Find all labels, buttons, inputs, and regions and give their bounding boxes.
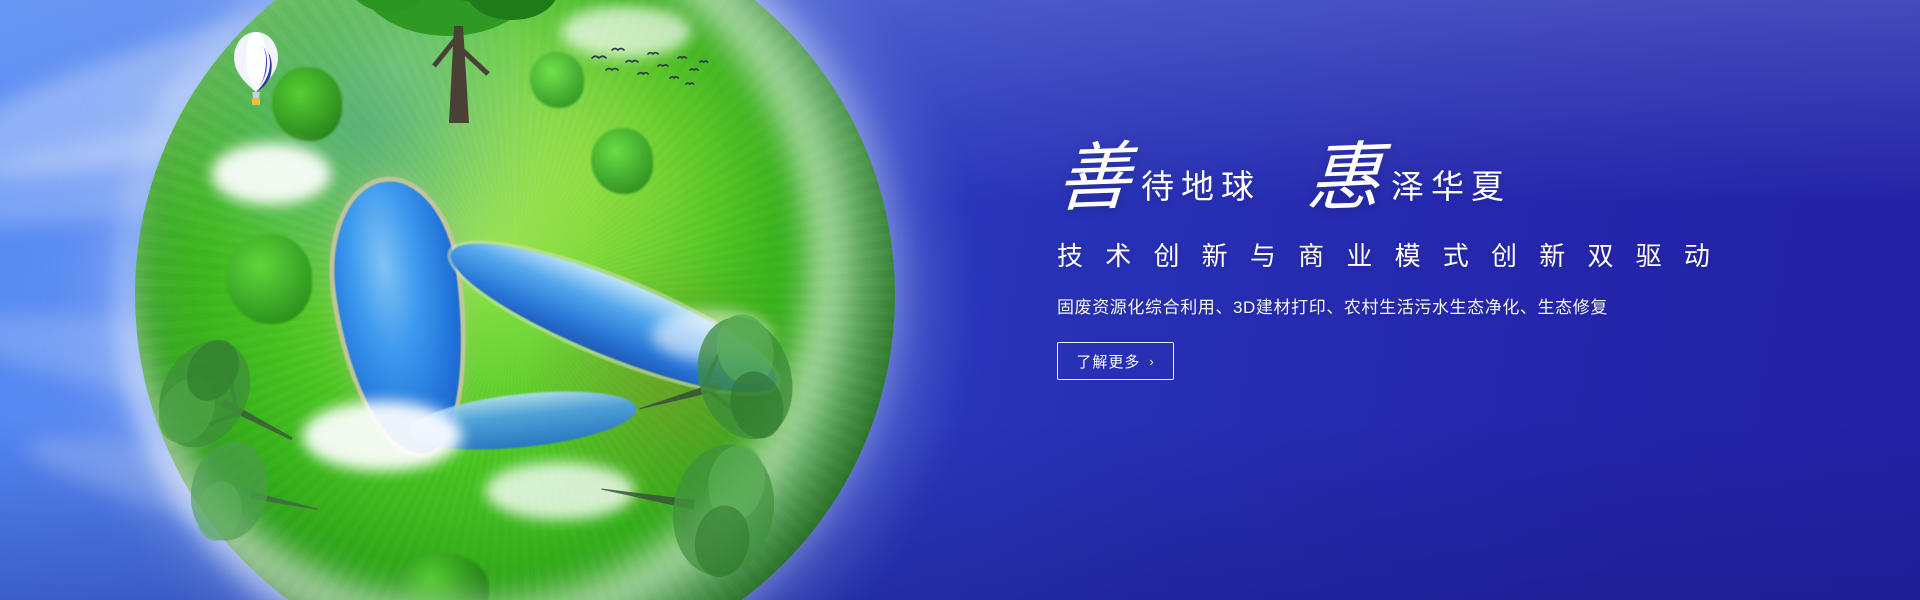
description: 固废资源化综合利用、3D建材打印、农村生活污水生态净化、生态修复 [1057, 293, 1757, 318]
learn-more-button[interactable]: 了解更多 › [1057, 342, 1174, 380]
hot-air-balloon-icon [232, 30, 280, 116]
headline: 善 待地球 惠 泽华夏 [1057, 132, 1757, 214]
subtitle: 技 术 创 新 与 商 业 模 式 创 新 双 驱 动 [1057, 236, 1757, 273]
headline-char-shan: 善 [1055, 142, 1133, 215]
headline-part-daidiqiu: 待地球 [1131, 172, 1261, 214]
hero-text-block: 善 待地球 惠 泽华夏 技 术 创 新 与 商 业 模 式 创 新 双 驱 动 … [1057, 132, 1757, 380]
birds-icon [586, 44, 716, 92]
chevron-right-icon: › [1149, 355, 1154, 368]
hero-banner: 善 待地球 惠 泽华夏 技 术 创 新 与 商 业 模 式 创 新 双 驱 动 … [0, 0, 1920, 600]
learn-more-label: 了解更多 [1076, 351, 1140, 372]
headline-part-zehuaxia: 泽华夏 [1381, 172, 1511, 214]
headline-char-hui: 惠 [1305, 142, 1383, 215]
